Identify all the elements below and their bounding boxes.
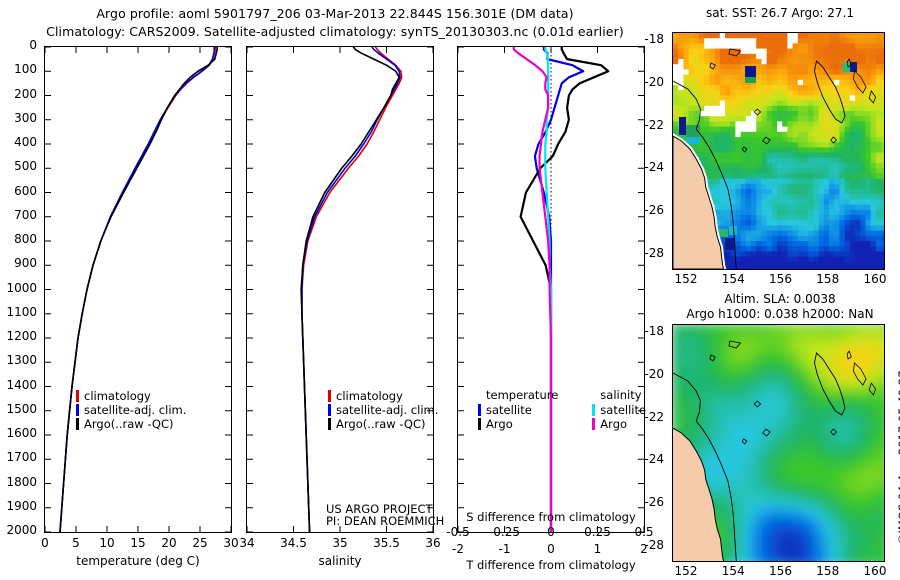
map-data-cell (793, 64, 799, 70)
map-data-cell (725, 59, 731, 65)
map-data-cell (694, 64, 700, 70)
map-data-cell (694, 90, 700, 96)
map-data-cell (871, 179, 877, 185)
map-data-cell (741, 137, 747, 143)
map-data-cell (834, 199, 840, 205)
map-data-cell (824, 173, 830, 179)
map-data-cell (793, 225, 799, 231)
map-data-cell (683, 43, 689, 49)
map-data-cell (761, 69, 767, 75)
map-data-cell (865, 153, 871, 159)
map-data-cell (793, 251, 799, 257)
map-data-cell (865, 168, 871, 174)
map-data-cell (819, 173, 825, 179)
map-data-cell (704, 132, 710, 138)
map-data-cell (813, 38, 819, 44)
map-highlight-cell (849, 62, 857, 72)
map-data-cell (845, 262, 851, 268)
map-data-cell (699, 33, 705, 39)
map-data-cell (845, 121, 851, 127)
map-data-cell (845, 116, 851, 122)
map-data-cell (819, 225, 825, 231)
map-data-cell (777, 246, 783, 252)
map-data-cell (673, 90, 679, 96)
map-data-cell (787, 153, 793, 159)
map-data-cell (871, 257, 877, 263)
map-data-cell (787, 199, 793, 205)
map-data-cell (777, 111, 783, 117)
map-missing-cell (746, 127, 752, 133)
map-data-cell (808, 179, 814, 185)
map-data-cell (819, 163, 825, 169)
map-data-cell (808, 111, 814, 117)
map-data-cell (808, 194, 814, 200)
map-data-cell (735, 54, 741, 60)
map-data-cell (860, 121, 866, 127)
map-data-cell (819, 205, 825, 211)
map-data-cell (834, 194, 840, 200)
map-data-cell (819, 194, 825, 200)
map-data-cell (777, 33, 783, 39)
map-data-cell (871, 111, 877, 117)
map-data-cell (808, 267, 814, 269)
map-data-cell (715, 54, 721, 60)
map-data-cell (689, 54, 695, 60)
map-data-cell (860, 111, 866, 117)
map-data-cell (751, 215, 757, 221)
map-data-cell (855, 137, 861, 143)
map-highlight-cell (745, 77, 756, 83)
map-data-cell (824, 194, 830, 200)
map-data-cell (751, 251, 757, 257)
map-data-cell (793, 101, 799, 107)
map-data-cell (678, 95, 684, 101)
map-data-cell (871, 59, 877, 65)
map-data-cell (839, 43, 845, 49)
map-data-cell (787, 210, 793, 216)
map-data-cell (865, 215, 871, 221)
map-data-cell (761, 64, 767, 70)
map-data-cell (735, 236, 741, 242)
map-data-cell (756, 75, 762, 81)
map-data-cell (829, 189, 835, 195)
map-data-cell (819, 179, 825, 185)
map-data-cell (834, 173, 840, 179)
map-data-cell (850, 142, 856, 148)
map-data-cell (756, 262, 762, 268)
difference-legend-group-title: temperature (478, 389, 558, 403)
map-data-cell (694, 69, 700, 75)
map-data-cell (871, 147, 877, 153)
map-data-cell (767, 257, 773, 263)
map-data-cell (782, 59, 788, 65)
map-data-cell (787, 137, 793, 143)
map-data-cell (834, 168, 840, 174)
map-data-cell (798, 38, 804, 44)
map-data-cell (720, 210, 726, 216)
map-data-cell (808, 116, 814, 122)
map-data-cell (850, 179, 856, 185)
map-data-cell (813, 179, 819, 185)
map-data-cell (730, 106, 736, 112)
map-data-cell (855, 116, 861, 122)
map-data-cell (834, 262, 840, 268)
map-data-cell (751, 95, 757, 101)
map-data-cell (720, 137, 726, 143)
map-data-cell (813, 127, 819, 133)
map-data-cell (881, 173, 884, 179)
map-missing-cell (756, 54, 762, 60)
map-data-cell (746, 95, 752, 101)
map-data-cell (704, 158, 710, 164)
map-data-cell (803, 127, 809, 133)
temperature-legend-item: climatology (76, 389, 186, 403)
map-data-cell (845, 215, 851, 221)
map-data-cell (725, 262, 731, 268)
map-data-cell (782, 49, 788, 55)
map-data-cell (876, 80, 882, 86)
map-data-cell (793, 49, 799, 55)
map-data-cell (767, 251, 773, 257)
map-data-cell (787, 80, 793, 86)
map-data-cell (793, 189, 799, 195)
map-data-cell (767, 241, 773, 247)
map-data-cell (829, 184, 835, 190)
map-data-cell (803, 184, 809, 190)
map-data-cell (881, 153, 884, 159)
map-data-cell (803, 33, 809, 39)
map-missing-cell (741, 121, 747, 127)
map-data-cell (850, 147, 856, 153)
map-data-cell (787, 106, 793, 112)
map-data-cell (730, 69, 736, 75)
project-pi: PI: DEAN ROEMMICH (326, 515, 444, 527)
map-missing-cell (735, 38, 741, 44)
map-data-cell (741, 173, 747, 179)
map-data-cell (751, 220, 757, 226)
map-data-cell (772, 158, 778, 164)
map-data-cell (798, 163, 804, 169)
map-data-cell (720, 199, 726, 205)
map-data-cell (725, 251, 731, 257)
map-data-cell (689, 101, 695, 107)
map-data-cell (787, 59, 793, 65)
map-data-cell (824, 184, 830, 190)
map-data-cell (756, 85, 762, 91)
map-data-cell (839, 184, 845, 190)
map-data-cell (699, 54, 705, 60)
salinity-x-tick: 34.5 (280, 536, 307, 550)
map-data-cell (756, 168, 762, 174)
map-data-cell (850, 158, 856, 164)
map-data-cell (673, 95, 679, 101)
map-missing-cell (678, 69, 684, 75)
map-data-cell (704, 64, 710, 70)
map-data-cell (855, 95, 861, 101)
map-data-cell (741, 251, 747, 257)
map-data-cell (777, 158, 783, 164)
map-data-cell (798, 184, 804, 190)
map-data-cell (772, 199, 778, 205)
map-data-cell (819, 132, 825, 138)
y-tick-label: 1500 (6, 402, 37, 416)
map-data-cell (834, 127, 840, 133)
map-data-cell (761, 80, 767, 86)
map-data-cell (855, 38, 861, 44)
map-missing-cell (730, 38, 736, 44)
map-data-cell (855, 54, 861, 60)
legend-color-swatch (76, 404, 79, 416)
map-data-cell (782, 173, 788, 179)
map-data-cell (777, 59, 783, 65)
map-data-cell (819, 64, 825, 70)
map-data-cell (761, 147, 767, 153)
map-data-cell (730, 168, 736, 174)
map-data-cell (777, 38, 783, 44)
map-missing-cell (720, 43, 726, 49)
map-data-cell (855, 179, 861, 185)
map-data-cell (704, 90, 710, 96)
map-data-cell (772, 132, 778, 138)
map-data-cell (803, 64, 809, 70)
map-data-cell (746, 220, 752, 226)
map-data-cell (865, 59, 871, 65)
map-data-cell (845, 111, 851, 117)
map-data-cell (751, 85, 757, 91)
map-data-cell (798, 189, 804, 195)
map-data-cell (803, 189, 809, 195)
map-data-cell (772, 236, 778, 242)
map-data-cell (819, 111, 825, 117)
map-data-cell (689, 116, 695, 122)
map-data-cell (850, 49, 856, 55)
y-tick-label: 2000 (6, 523, 37, 537)
map-data-cell (803, 205, 809, 211)
map-data-cell (793, 95, 799, 101)
map-data-cell (756, 80, 762, 86)
map-data-cell (756, 33, 762, 39)
map-data-cell (709, 168, 715, 174)
map-missing-cell (730, 43, 736, 49)
map-data-cell (808, 59, 814, 65)
map-missing-cell (761, 59, 767, 65)
map-data-cell (782, 168, 788, 174)
map-data-cell (834, 69, 840, 75)
map-data-cell (845, 251, 851, 257)
map-data-cell (709, 173, 715, 179)
legend-label: satellite-adj. clim. (336, 404, 438, 416)
map-data-cell (881, 90, 884, 96)
legend-label: Argo(..raw -QC) (84, 418, 174, 430)
sst-y-tick: -28 (644, 246, 664, 260)
map-data-cell (756, 142, 762, 148)
map-data-cell (850, 257, 856, 263)
map-data-cell (819, 80, 825, 86)
map-data-cell (865, 179, 871, 185)
map-data-cell (855, 111, 861, 117)
map-data-cell (678, 54, 684, 60)
map-data-cell (735, 64, 741, 70)
map-data-cell (782, 251, 788, 257)
map-data-cell (709, 121, 715, 127)
map-data-cell (777, 241, 783, 247)
profile-line-satellite-adj-clim- (60, 47, 214, 532)
map-data-cell (876, 158, 882, 164)
map-data-cell (694, 106, 700, 112)
map-data-cell (850, 137, 856, 143)
map-data-cell (881, 168, 884, 174)
map-data-cell (860, 69, 866, 75)
map-data-cell (834, 251, 840, 257)
map-data-cell (699, 101, 705, 107)
map-data-cell (839, 54, 845, 60)
map-data-cell (761, 33, 767, 39)
map-data-cell (808, 205, 814, 211)
map-data-cell (808, 231, 814, 237)
map-data-cell (746, 142, 752, 148)
map-data-cell (845, 101, 851, 107)
map-data-cell (871, 210, 877, 216)
map-data-cell (803, 225, 809, 231)
map-data-cell (772, 59, 778, 65)
map-data-cell (850, 220, 856, 226)
map-data-cell (704, 69, 710, 75)
map-data-cell (850, 127, 856, 133)
map-data-cell (777, 142, 783, 148)
y-tick-label: 800 (14, 232, 37, 246)
map-data-cell (876, 101, 882, 107)
map-data-cell (782, 43, 788, 49)
map-data-cell (798, 127, 804, 133)
map-data-cell (673, 54, 679, 60)
map-data-cell (850, 225, 856, 231)
map-missing-cell (787, 38, 793, 44)
map-data-cell (761, 251, 767, 257)
map-data-cell (772, 168, 778, 174)
map-data-cell (808, 132, 814, 138)
map-data-cell (793, 184, 799, 190)
map-data-cell (756, 64, 762, 70)
salinity-legend-item: satellite-adj. clim. (328, 403, 438, 417)
map-data-cell (860, 43, 866, 49)
map-data-cell (741, 241, 747, 247)
map-data-cell (761, 75, 767, 81)
map-data-cell (741, 189, 747, 195)
map-data-cell (694, 49, 700, 55)
map-data-cell (824, 158, 830, 164)
map-data-cell (782, 121, 788, 127)
map-data-cell (772, 220, 778, 226)
map-data-cell (876, 106, 882, 112)
map-data-cell (845, 220, 851, 226)
map-data-cell (871, 142, 877, 148)
map-data-cell (715, 173, 721, 179)
map-data-cell (730, 142, 736, 148)
y-tick-label: 100 (14, 62, 37, 76)
map-data-cell (845, 90, 851, 96)
map-data-cell (865, 137, 871, 143)
map-data-cell (860, 158, 866, 164)
map-data-cell (860, 241, 866, 247)
map-data-cell (720, 95, 726, 101)
map-data-cell (813, 49, 819, 55)
map-data-cell (876, 163, 882, 169)
map-data-cell (813, 173, 819, 179)
temperature-x-tick: 25 (192, 536, 207, 550)
map-data-cell (834, 163, 840, 169)
map-data-cell (829, 153, 835, 159)
map-data-cell (860, 137, 866, 143)
temperature-x-tick: 15 (130, 536, 145, 550)
map-data-cell (803, 231, 809, 237)
map-data-cell (725, 127, 731, 133)
map-data-cell (746, 194, 752, 200)
map-data-cell (746, 231, 752, 237)
map-data-cell (756, 189, 762, 195)
map-data-cell (808, 173, 814, 179)
map-data-cell (704, 54, 710, 60)
map-data-cell (808, 184, 814, 190)
map-data-cell (699, 75, 705, 81)
map-data-cell (741, 179, 747, 185)
map-data-cell (834, 54, 840, 60)
map-data-cell (881, 142, 884, 148)
map-data-cell (865, 210, 871, 216)
salinity-legend-item: climatology (328, 389, 438, 403)
map-data-cell (793, 241, 799, 247)
map-data-cell (741, 111, 747, 117)
map-data-cell (772, 205, 778, 211)
map-data-cell (813, 220, 819, 226)
map-data-cell (683, 49, 689, 55)
map-data-cell (720, 80, 726, 86)
map-data-cell (735, 59, 741, 65)
map-data-cell (829, 158, 835, 164)
map-missing-cell (751, 49, 757, 55)
map-data-cell (767, 267, 773, 269)
map-data-cell (689, 69, 695, 75)
map-data-cell (824, 38, 830, 44)
map-data-cell (735, 80, 741, 86)
map-data-cell (782, 220, 788, 226)
map-data-cell (709, 75, 715, 81)
map-data-cell (756, 220, 762, 226)
map-data-cell (777, 95, 783, 101)
map-data-cell (871, 246, 877, 252)
map-data-cell (865, 267, 871, 269)
map-data-cell (819, 49, 825, 55)
map-data-cell (829, 38, 835, 44)
map-data-cell (819, 106, 825, 112)
map-data-cell (787, 257, 793, 263)
map-data-cell (865, 111, 871, 117)
map-data-cell (767, 189, 773, 195)
map-data-cell (678, 49, 684, 55)
map-data-cell (824, 49, 830, 55)
map-data-cell (725, 132, 731, 138)
map-data-cell (720, 116, 726, 122)
map-data-cell (876, 225, 882, 231)
map-data-cell (741, 262, 747, 268)
map-missing-cell (782, 127, 788, 133)
y-tick-label: 1100 (6, 305, 37, 319)
map-data-cell (865, 257, 871, 263)
map-data-cell (839, 158, 845, 164)
map-data-cell (725, 147, 731, 153)
map-data-cell (819, 147, 825, 153)
map-data-cell (839, 189, 845, 195)
map-data-cell (709, 54, 715, 60)
